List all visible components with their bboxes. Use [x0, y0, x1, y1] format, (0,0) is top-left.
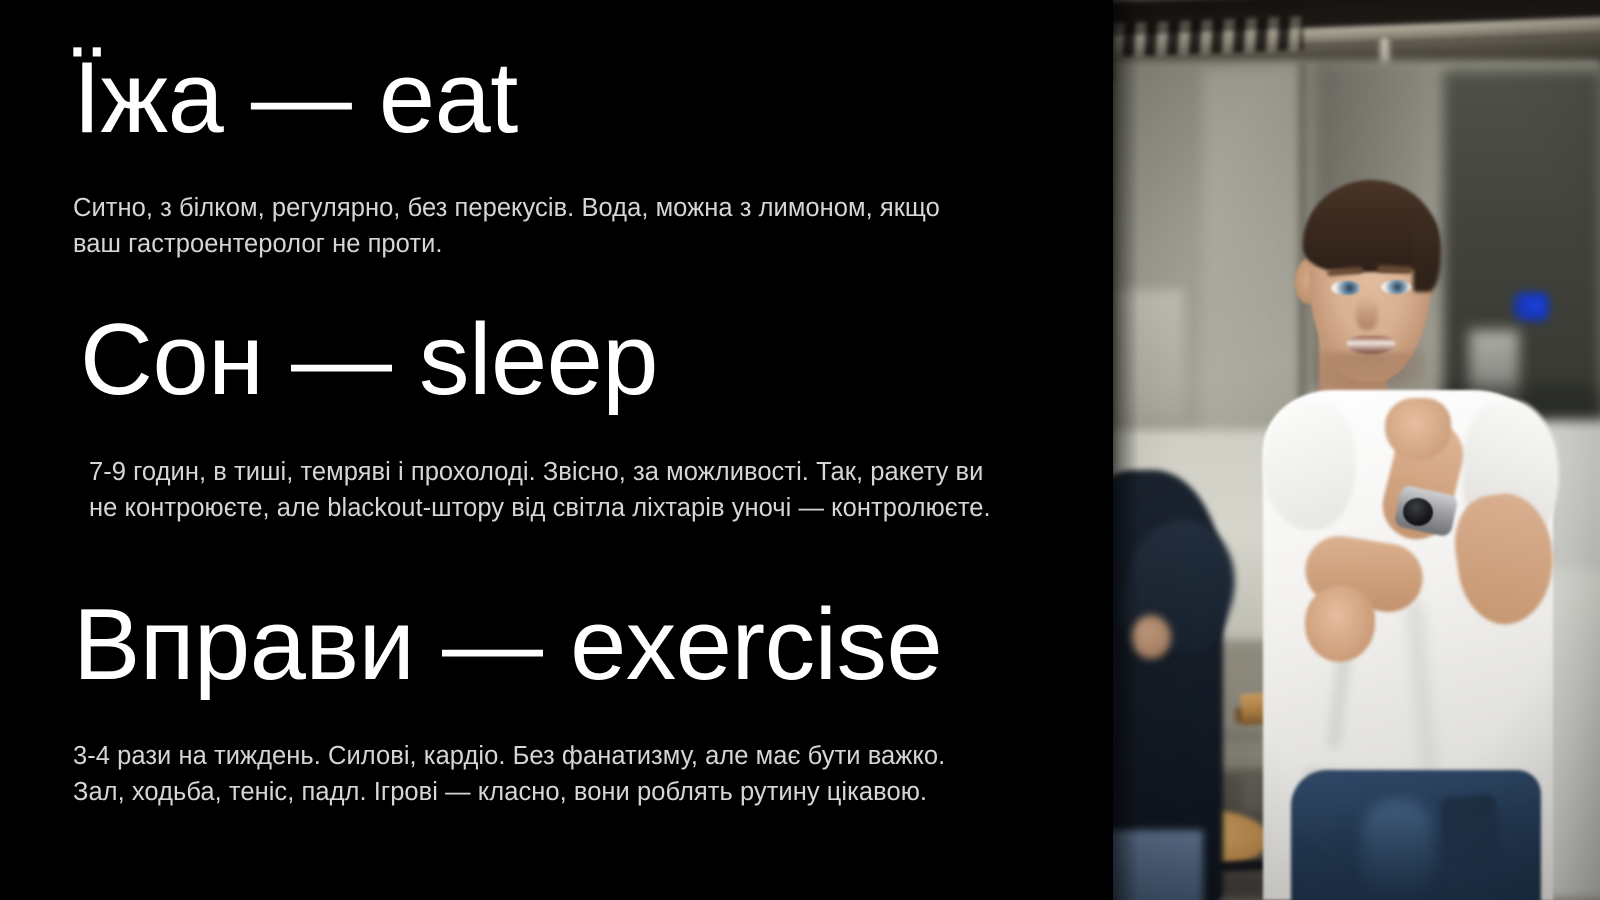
photo-speaker-eye-left	[1331, 281, 1361, 295]
section-heading-eat: Їжа — eat	[73, 48, 1033, 149]
section-sleep: Сон — sleep 7-9 годин, в тиші, темряві і…	[80, 310, 1060, 526]
photo-tshirt-sleeve-left	[1263, 400, 1355, 530]
photo-jeans-pocket	[1439, 793, 1502, 868]
section-heading-sleep: Сон — sleep	[80, 310, 1060, 411]
photo-speaker-nose	[1356, 296, 1378, 330]
section-body-eat: Ситно, з білком, регулярно, без перекусі…	[73, 190, 973, 262]
slide-root: Їжа — eat Ситно, з білком, регулярно, бе…	[0, 0, 1600, 900]
section-heading-exercise: Вправи — exercise	[73, 595, 1073, 696]
photo-door	[1119, 290, 1183, 420]
speaker-photo	[1113, 0, 1600, 900]
photo-blue-object	[1513, 292, 1549, 322]
photo-jeans-highlight	[1363, 800, 1433, 900]
text-panel: Їжа — eat Ситно, з білком, регулярно, бе…	[0, 0, 1113, 900]
photo-speaker-hand-raised	[1385, 398, 1451, 460]
photo-foreground-person-hand	[1131, 615, 1171, 659]
section-exercise: Вправи — exercise 3-4 рази на тиждень. С…	[73, 595, 1073, 810]
photo-speaker-jaw-shadow	[1313, 352, 1425, 388]
photo-wall-mark-2	[1241, 772, 1263, 812]
section-eat: Їжа — eat Ситно, з білком, регулярно, бе…	[73, 48, 1033, 262]
section-body-sleep: 7-9 годин, в тиші, темряві і прохолоді. …	[89, 454, 999, 526]
photo-speaker-eye-right	[1381, 280, 1411, 294]
section-body-exercise: 3-4 рази на тиждень. Силові, кардіо. Без…	[73, 738, 993, 810]
photo-speaker-hand-lower	[1305, 586, 1375, 662]
photo-foreground-person-jeans	[1113, 830, 1203, 900]
